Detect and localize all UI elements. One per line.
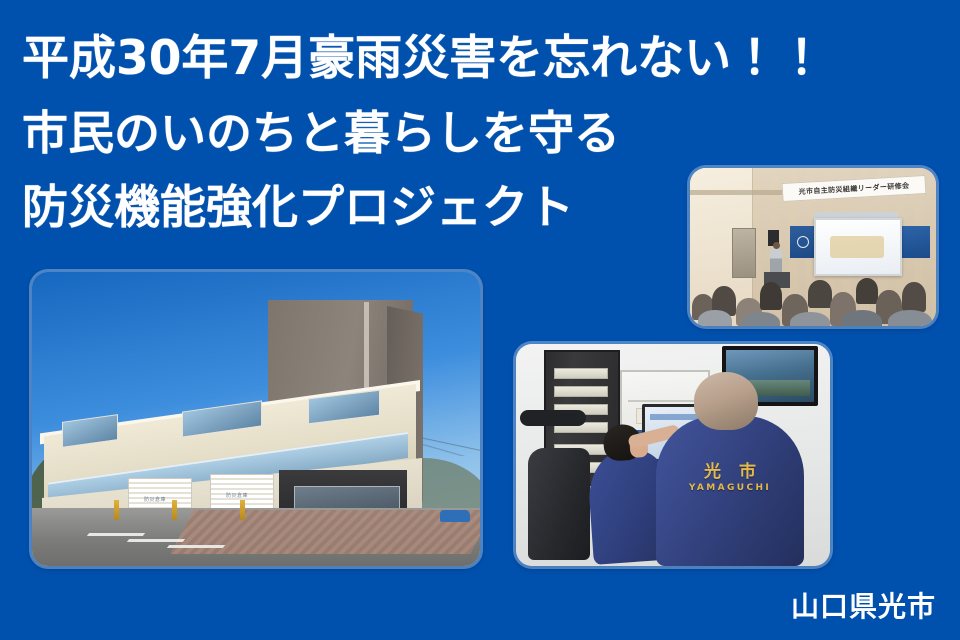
uniform-roman-text: YAMAGUCHI (656, 484, 804, 493)
rack-unit (554, 386, 608, 397)
poster-root: 平成30年7月豪雨災害を忘れない！！ 市民のいのちと暮らしを守る 防災機能強化プ… (0, 0, 960, 640)
cabinet-shelf (628, 400, 698, 402)
seminar-audience (690, 264, 936, 326)
bollard-2 (172, 500, 177, 520)
seminar-photo-inner: 光市自主防災組織リーダー研修会 (690, 168, 936, 326)
audience-head (888, 310, 932, 326)
photo-leader-training-seminar: 光市自主防災組織リーダー研修会 (690, 168, 936, 326)
office-chair-armrest (520, 410, 586, 426)
parking-line-1 (87, 533, 145, 536)
uniform-back-print: 光市 YAMAGUCHI (656, 464, 804, 493)
garage-label-right: 防災倉庫 (226, 492, 248, 499)
audience-head (902, 282, 926, 312)
photo-disaster-operations-room: 光市 YAMAGUCHI (516, 344, 830, 566)
ceremonial-flag-left (790, 226, 814, 258)
ceremonial-flag-right (902, 226, 930, 258)
audience-head (842, 310, 882, 326)
rack-unit (554, 368, 608, 379)
parking-line-2 (127, 539, 185, 542)
audience-head (698, 310, 732, 326)
photo-disaster-prevention-building: 防災倉庫 防災倉庫 (32, 272, 480, 566)
parking-line-3 (167, 545, 225, 548)
audience-head (856, 278, 878, 304)
parked-car (440, 510, 470, 522)
staff-member-seated: 光市 YAMAGUCHI (656, 416, 804, 566)
poster-title: 平成30年7月豪雨災害を忘れない！！ 市民のいのちと暮らしを守る 防災機能強化プ… (22, 22, 712, 244)
garage-label-left: 防災倉庫 (144, 496, 166, 503)
bollard-1 (114, 500, 119, 520)
seminar-banner-text: 光市自主防災組織リーダー研修会 (798, 180, 909, 196)
uniform-kanji-text: 光市 (656, 464, 804, 481)
audience-head (760, 282, 782, 310)
office-chair (528, 448, 590, 560)
title-line-1: 平成30年7月豪雨災害を忘れない！！ (22, 22, 712, 96)
title-line-3: 防災機能強化プロジェクト (22, 170, 712, 244)
audience-head (790, 312, 830, 326)
bollard-3 (240, 500, 245, 520)
audience-head (808, 280, 832, 308)
issuing-city-credit: 山口県光市 (791, 590, 936, 624)
audience-head (742, 312, 780, 326)
staff-head (694, 372, 758, 430)
title-line-2: 市民のいのちと暮らしを守る (22, 96, 712, 170)
ops-photo-inner: 光市 YAMAGUCHI (516, 344, 830, 566)
building-photo-inner: 防災倉庫 防災倉庫 (32, 272, 480, 566)
